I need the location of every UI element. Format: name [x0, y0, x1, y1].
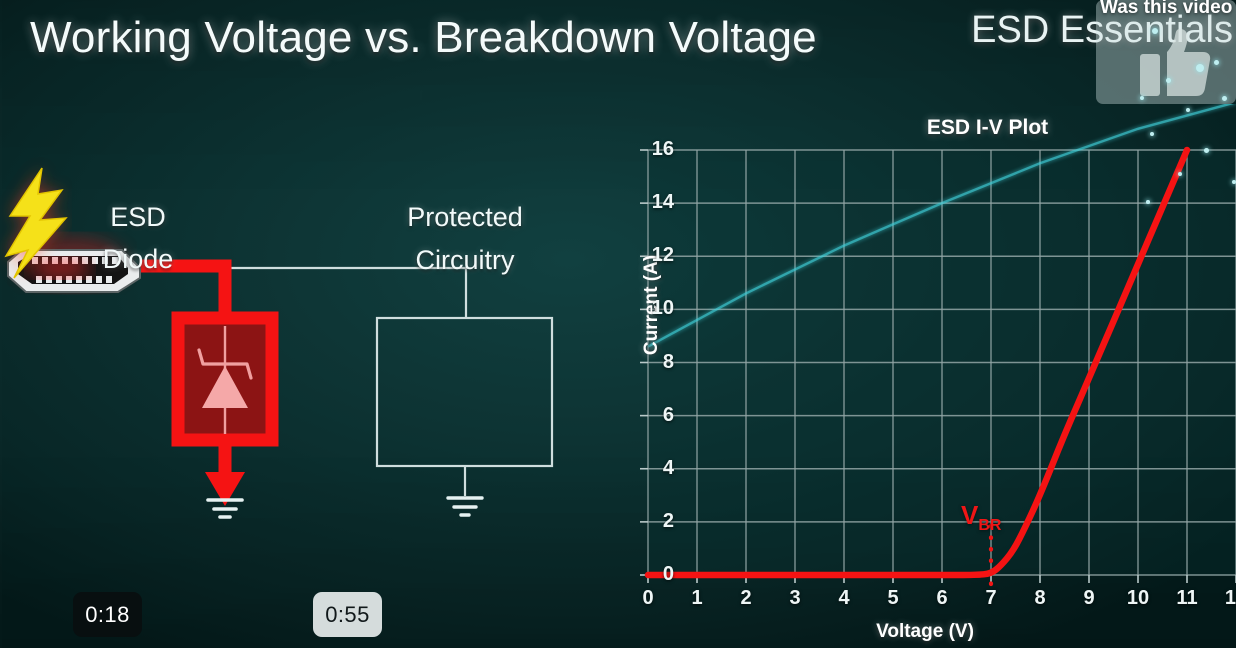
- thumbs-up-icon[interactable]: [1140, 28, 1212, 98]
- vbr-annotation: VBR: [961, 500, 1001, 535]
- x-tick-label: 11: [1167, 587, 1207, 610]
- background-star: [1204, 148, 1209, 153]
- protected-circuitry-box: [377, 318, 552, 466]
- ground-icon: [448, 498, 482, 515]
- timestamp-chip-end[interactable]: 0:55: [313, 592, 382, 637]
- background-star: [1166, 78, 1171, 83]
- chart-title: ESD I-V Plot: [580, 116, 1236, 140]
- y-tick-label: 8: [628, 351, 674, 374]
- timestamp-chip-start[interactable]: 0:18: [73, 592, 142, 637]
- background-star: [1178, 172, 1182, 176]
- y-tick-label: 6: [628, 404, 674, 427]
- y-tick-label: 16: [628, 138, 674, 161]
- y-tick-label: 0: [628, 563, 674, 586]
- esd-diode-label-line2: Diode: [103, 244, 174, 274]
- protected-label-line1: Protected: [407, 202, 523, 232]
- x-tick-label: 3: [775, 587, 815, 610]
- y-tick-label: 10: [628, 297, 674, 320]
- background-star: [1152, 28, 1158, 34]
- y-tick-label: 12: [628, 244, 674, 267]
- x-tick-label: 0: [628, 587, 668, 610]
- y-tick-label: 4: [628, 457, 674, 480]
- video-frame: Working Voltage vs. Breakdown Voltage ES…: [0, 0, 1236, 648]
- page-title: Working Voltage vs. Breakdown Voltage: [30, 13, 817, 63]
- like-overlay-question: Was this video: [1100, 0, 1236, 19]
- vbr-symbol: V: [961, 500, 978, 530]
- x-tick-label: 7: [971, 587, 1011, 610]
- x-tick-label: 5: [873, 587, 913, 610]
- y-tick-label: 14: [628, 191, 674, 214]
- protected-label-line2: Circuitry: [416, 245, 515, 275]
- background-star: [1150, 132, 1154, 136]
- esd-diode-label: ESD Diode: [78, 197, 198, 281]
- x-tick-label: 1: [677, 587, 717, 610]
- background-star: [1146, 200, 1150, 204]
- x-tick-label: 10: [1118, 587, 1158, 610]
- vbr-subscript: BR: [978, 517, 1001, 534]
- x-tick-label: 6: [922, 587, 962, 610]
- plot-area: [580, 104, 1236, 648]
- esd-iv-chart: ESD I-V Plot Current (A) Voltage (V) 024…: [580, 104, 1236, 648]
- x-axis-title: Voltage (V): [805, 621, 1045, 643]
- background-star: [1140, 96, 1144, 100]
- x-tick-label: 9: [1069, 587, 1109, 610]
- x-tick-label: 2: [726, 587, 766, 610]
- y-tick-label: 2: [628, 510, 674, 533]
- x-tick-label: 8: [1020, 587, 1060, 610]
- protected-circuitry-label: Protected Circuitry: [378, 196, 552, 282]
- x-tick-label: 12: [1216, 587, 1236, 610]
- x-tick-label: 4: [824, 587, 864, 610]
- background-star: [1196, 64, 1204, 72]
- esd-diode-label-line1: ESD: [110, 202, 166, 232]
